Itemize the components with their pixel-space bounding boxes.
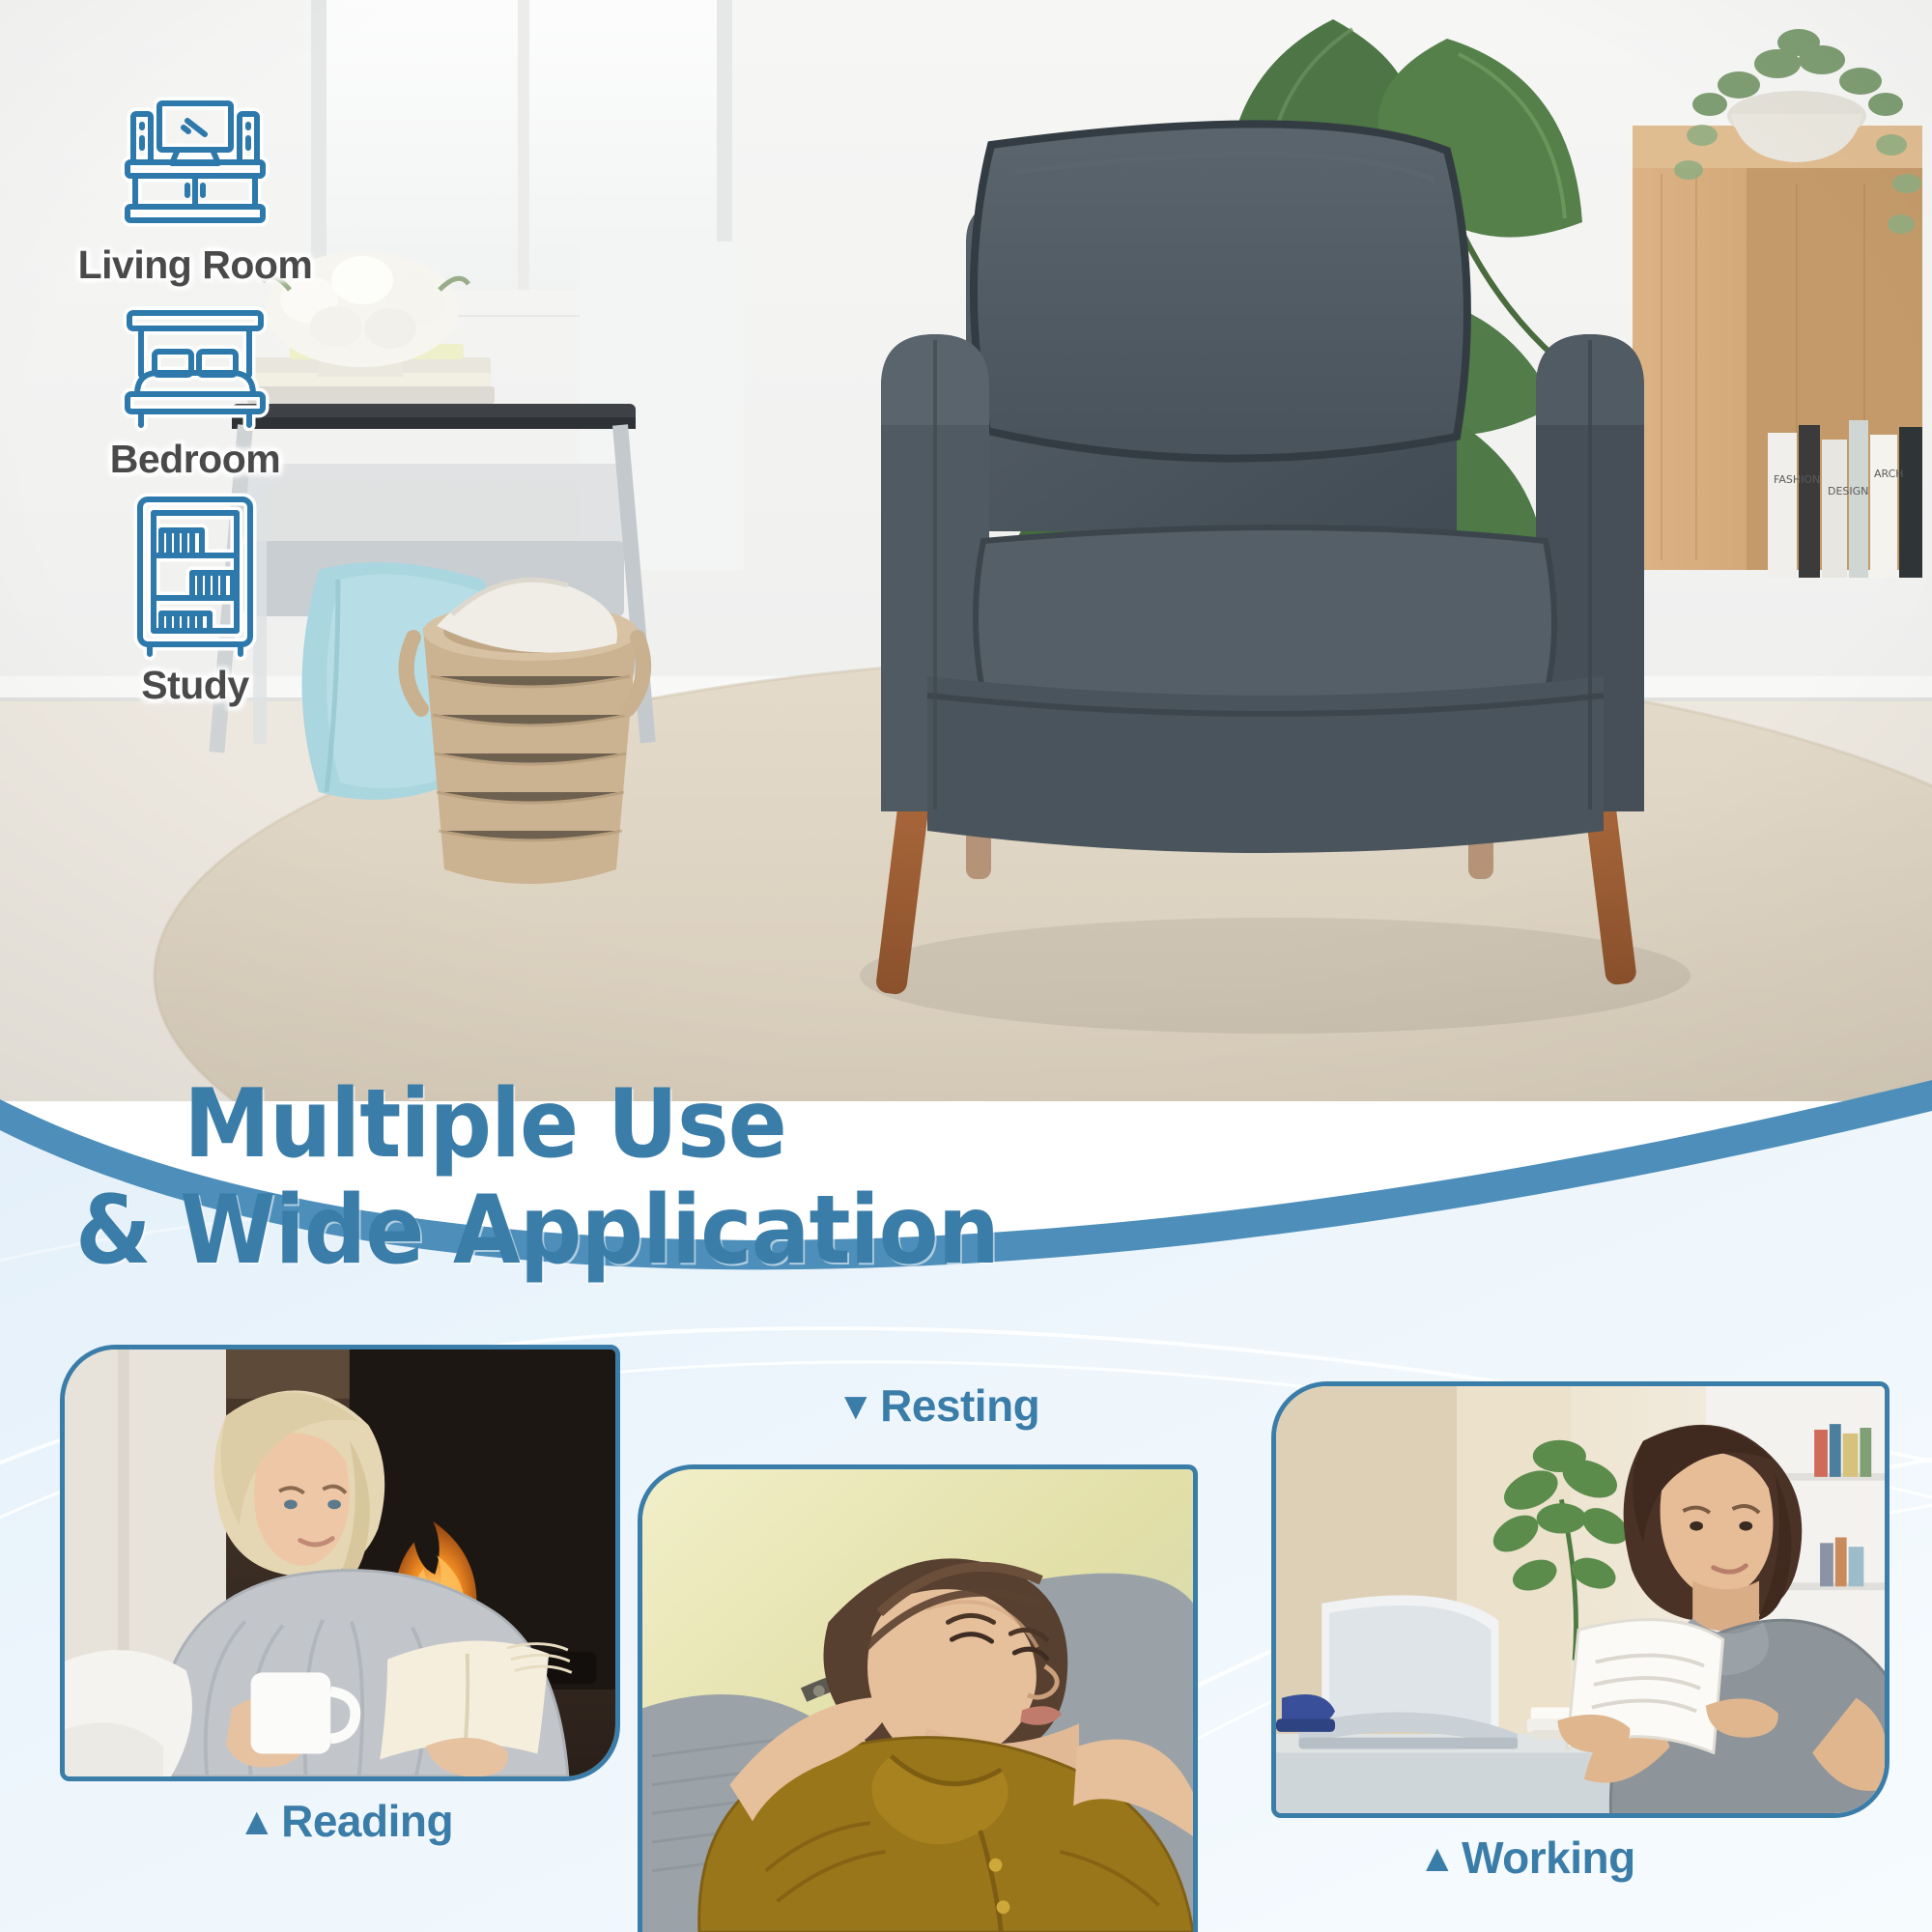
headline-line-1: Multiple Use: [75, 1077, 983, 1174]
usecase-label-bedroom: Bedroom: [110, 437, 280, 482]
bookshelf-icon: [118, 492, 272, 661]
reading-scene-illustration: [65, 1350, 615, 1776]
headline-block: Multiple Use & Wide Application: [0, 1077, 1063, 1280]
usecase-icon-list: Living Room: [70, 92, 321, 708]
caption-resting: ▼ Resting: [837, 1379, 1039, 1432]
caption-label-working: Working: [1462, 1832, 1635, 1884]
usecase-item-study: Study: [70, 492, 321, 708]
working-scene-illustration: [1276, 1386, 1885, 1813]
triangle-up-icon: ▲: [1418, 1839, 1456, 1878]
usecase-label-living-room: Living Room: [78, 242, 313, 288]
marketing-banner: FASHION DESIGN ARCH: [0, 0, 1932, 1932]
caption-working: ▲ Working: [1418, 1832, 1635, 1884]
resting-scene-illustration: [642, 1469, 1193, 1932]
usecase-label-study: Study: [141, 663, 248, 708]
bed-icon: [99, 305, 292, 431]
usecase-photo-card-resting[interactable]: [638, 1464, 1198, 1932]
usecase-item-bedroom: Bedroom: [70, 305, 321, 482]
triangle-up-icon: ▲: [238, 1803, 275, 1841]
usecase-photo-card-reading[interactable]: [60, 1345, 620, 1781]
caption-label-resting: Resting: [880, 1379, 1039, 1432]
headline-line-2: & Wide Application: [75, 1183, 983, 1280]
caption-reading: ▲ Reading: [238, 1795, 453, 1847]
caption-label-reading: Reading: [281, 1795, 453, 1847]
tv-stand-icon: [99, 92, 292, 237]
usecase-photo-card-working[interactable]: [1271, 1381, 1889, 1818]
triangle-down-icon: ▼: [837, 1387, 874, 1426]
usecase-item-living-room: Living Room: [70, 92, 321, 288]
